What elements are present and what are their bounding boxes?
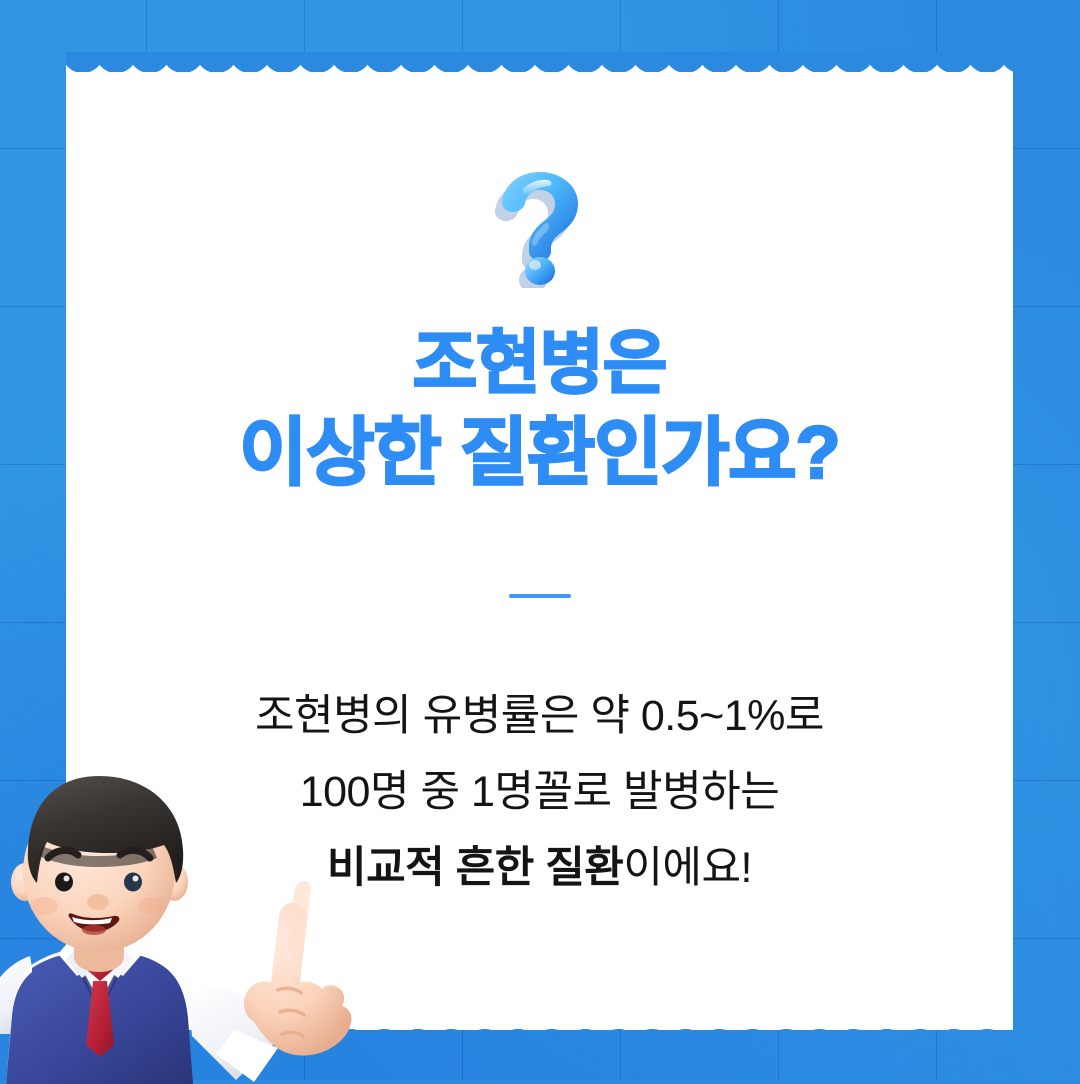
right-eye-highlight bbox=[133, 876, 139, 882]
left-eye-highlight bbox=[64, 876, 70, 882]
card-scalloped-top-edge bbox=[66, 52, 1013, 72]
pointing-hand bbox=[244, 881, 352, 1056]
question-mark-icon-wrap bbox=[66, 160, 1013, 288]
body-line-1: 조현병의 유병률은 약 0.5~1%로 bbox=[66, 678, 1013, 754]
left-cheek bbox=[30, 897, 58, 915]
right-eye bbox=[124, 873, 142, 892]
question-mark-3d-icon bbox=[474, 160, 606, 288]
divider-wrap bbox=[66, 594, 1013, 598]
left-eye bbox=[55, 873, 73, 892]
page-title: 조현병은 이상한 질환인가요? bbox=[66, 318, 1013, 498]
schoolboy-head bbox=[11, 776, 188, 972]
divider-rule bbox=[509, 594, 571, 598]
schoolboy-torso bbox=[0, 940, 278, 1084]
tongue bbox=[82, 925, 106, 935]
pointing-schoolboy-illustration bbox=[0, 754, 422, 1084]
body-line-3-tail: 이에요! bbox=[623, 844, 752, 892]
right-cheek bbox=[138, 897, 166, 915]
headline-line-2: 이상한 질환인가요? bbox=[66, 408, 1013, 498]
nose bbox=[87, 894, 109, 910]
headline-line-1: 조현병은 bbox=[66, 318, 1013, 408]
